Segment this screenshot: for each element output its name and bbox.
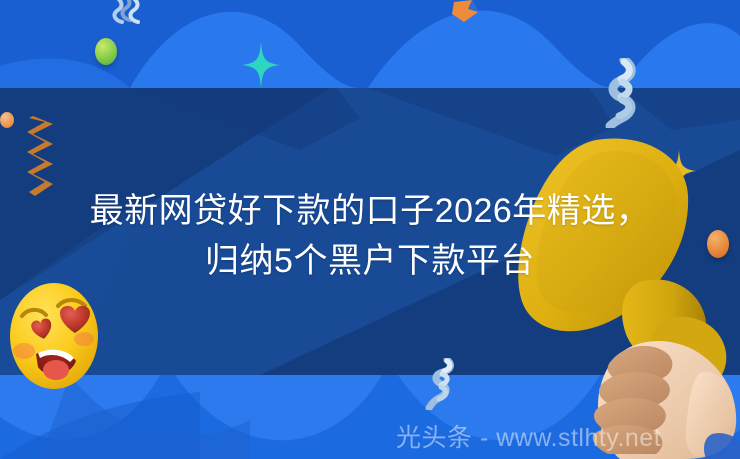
orange-diamond-confetti-icon (452, 0, 478, 22)
blue-spiral-ribbon-low-icon (425, 358, 455, 410)
promo-banner: 最新网贷好下款的口子2026年精选， 归纳5个黑户下款平台 光头条 - www.… (0, 0, 740, 459)
blue-spiral-ribbon-right-icon (594, 58, 638, 128)
smiling-face-with-heart-eyes-emoji-icon (8, 281, 100, 391)
banner-headline: 最新网贷好下款的口子2026年精选， 归纳5个黑户下款平台 (0, 186, 740, 286)
orange-dot-confetti-icon (0, 112, 14, 128)
teal-sparkle-icon (242, 42, 280, 88)
site-watermark: 光头条 - www.stlhty.net (396, 423, 661, 453)
megaphone-icon (516, 134, 740, 459)
blue-spiral-ribbon-icon (108, 0, 148, 38)
green-ball-confetti-icon (95, 38, 117, 65)
